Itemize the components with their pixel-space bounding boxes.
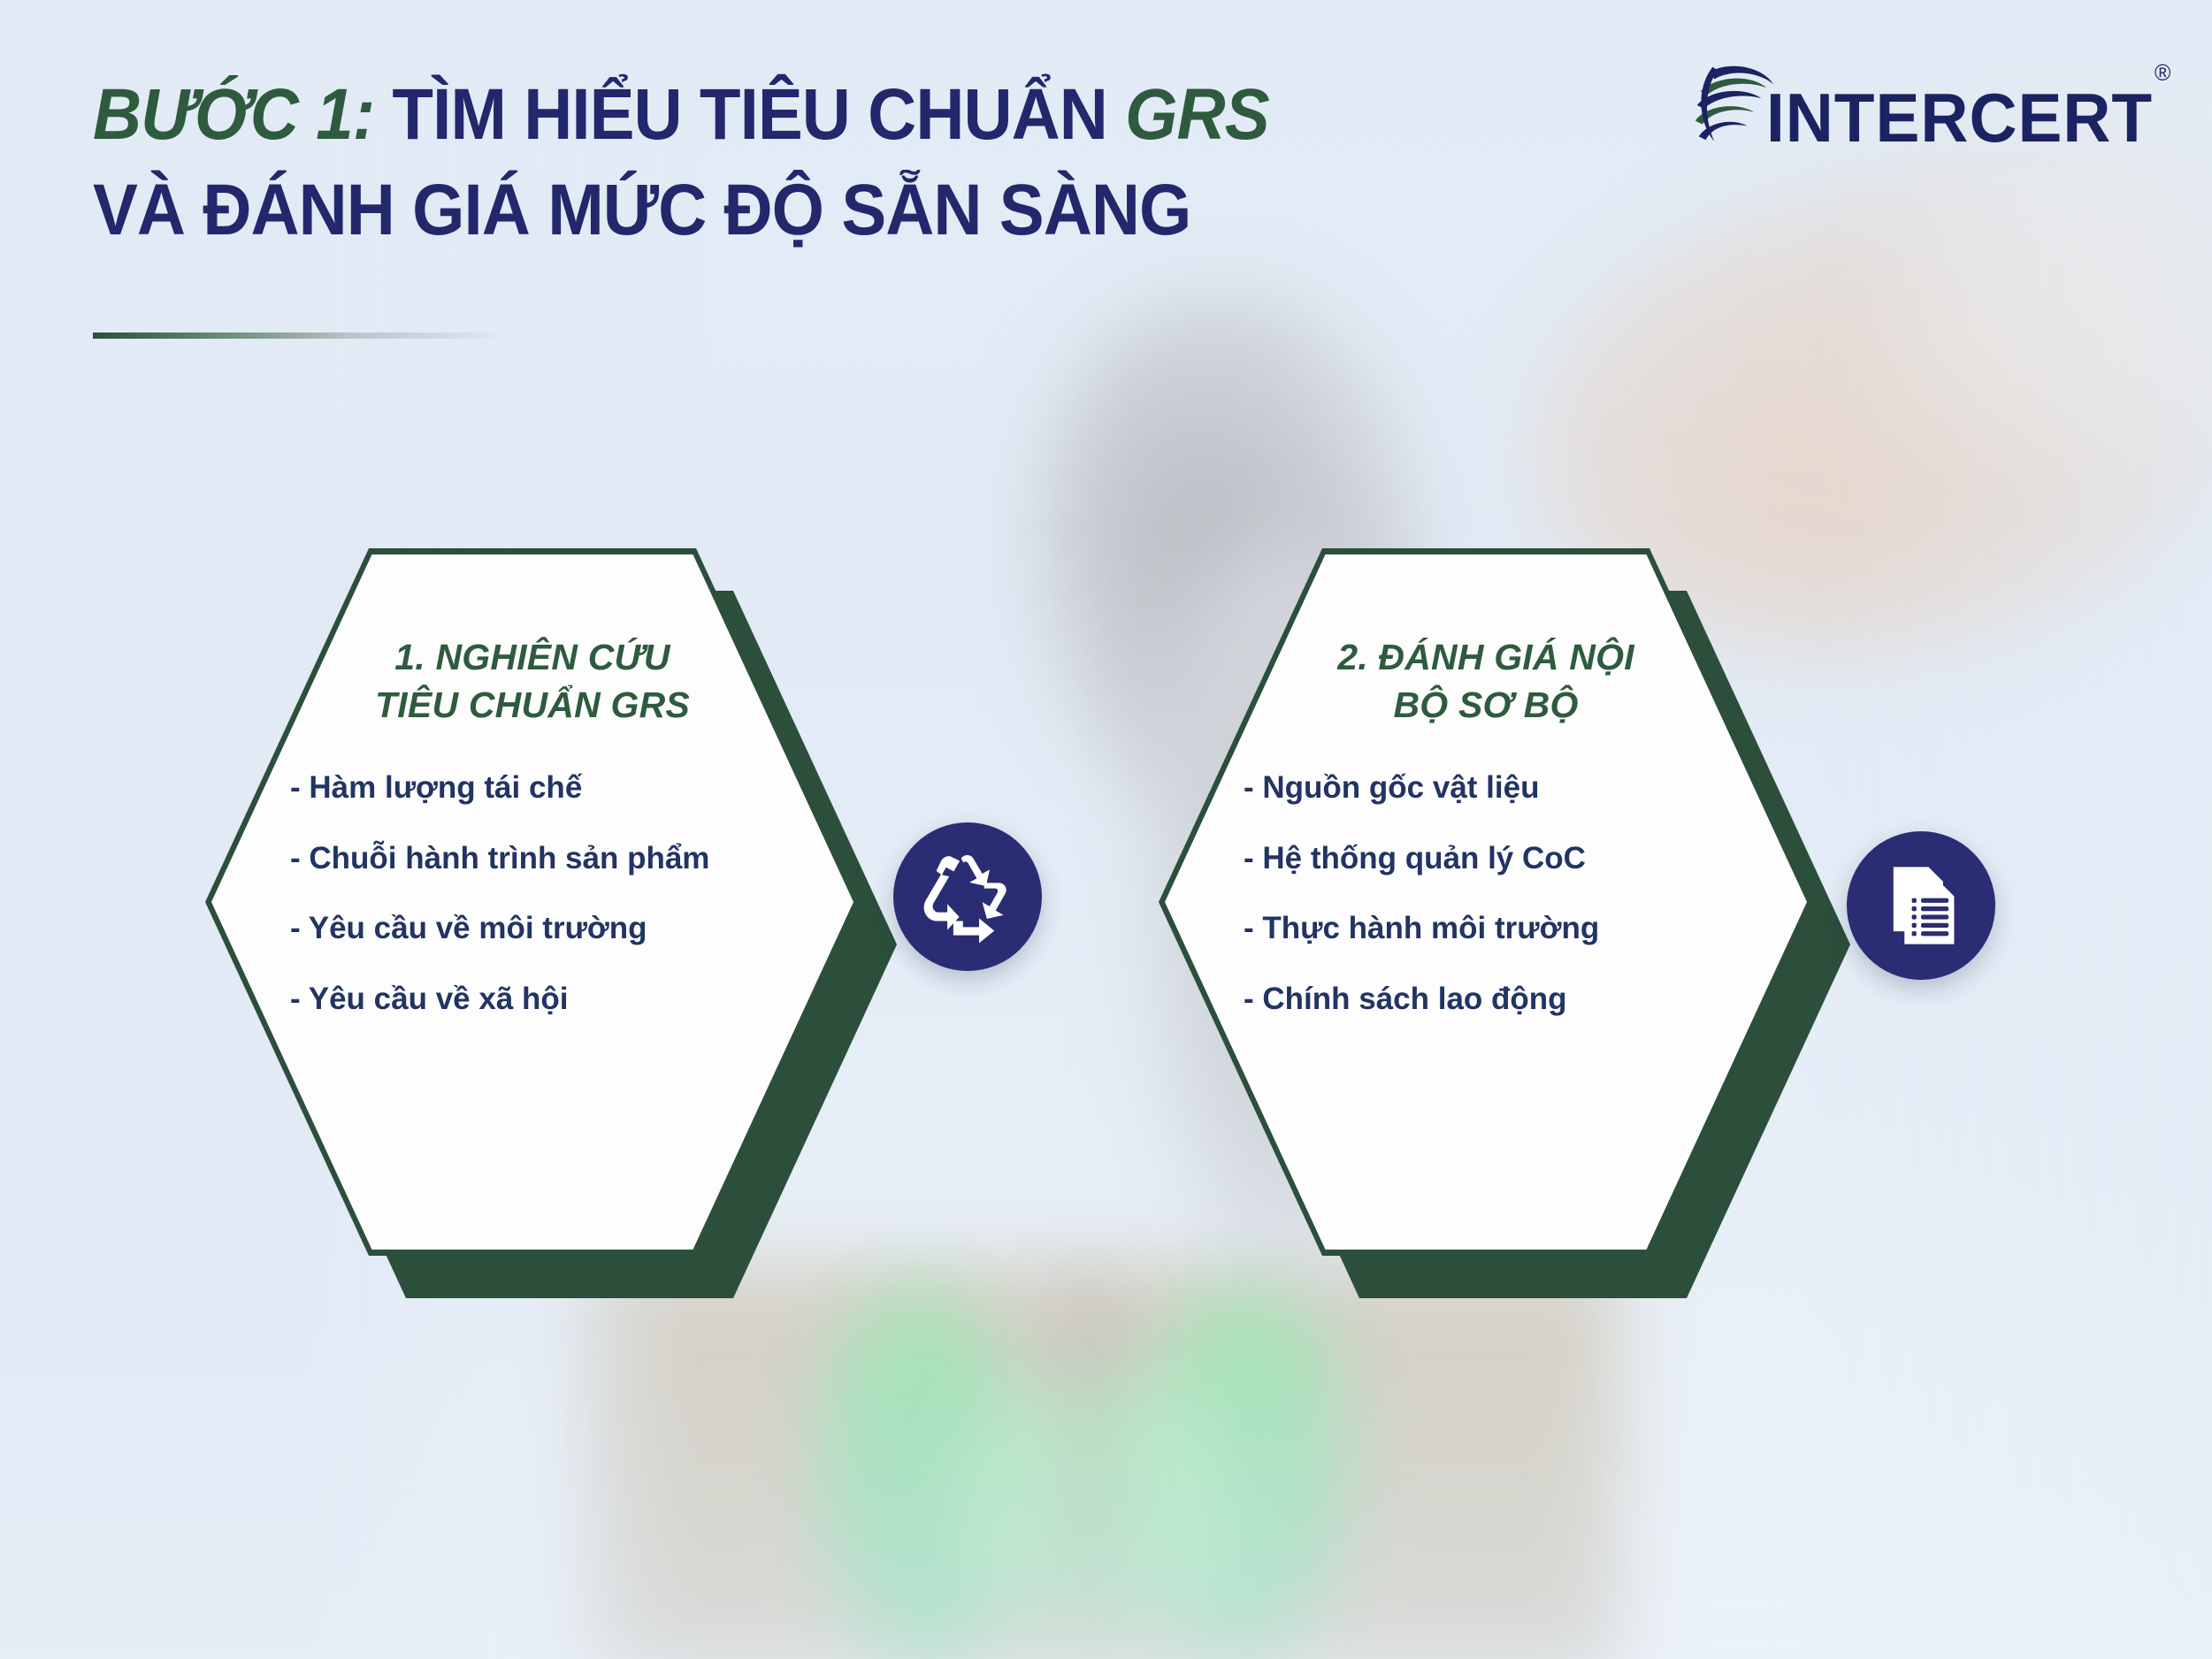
title-line-2: VÀ ĐÁNH GIÁ MỨC ĐỘ SẴN SÀNG (93, 173, 1269, 248)
intercert-logo: INTERCERT® (1687, 55, 2187, 152)
recycle-icon (922, 851, 1014, 943)
title-line-1: BƯỚC 1: TÌM HIỂU TIÊU CHUẨN GRS (93, 78, 1269, 152)
card-title: 1. NGHIÊN CỨU TIÊU CHUẨN GRS (290, 633, 775, 729)
title-divider (93, 333, 507, 339)
logo-wordmark-text: INTERCERT (1766, 79, 2153, 157)
list-item: - Yêu cầu về xã hội (290, 979, 775, 1020)
card-title-line-1: 2. ĐÁNH GIÁ NỘI (1337, 637, 1634, 677)
card-bullet-list: - Nguồn gốc vật liệu - Hệ thống quản lý … (1244, 768, 1728, 1019)
card-title-line-2: TIÊU CHUẨN GRS (375, 684, 690, 725)
documents-checklist-icon-badge[interactable] (1847, 831, 1995, 980)
card-title: 2. ĐÁNH GIÁ NỘI BỘ SƠ BỘ (1244, 633, 1728, 729)
page-title: BƯỚC 1: TÌM HIỂU TIÊU CHUẨN GRS VÀ ĐÁNH … (93, 78, 1358, 247)
documents-checklist-icon (1875, 860, 1967, 952)
list-item: - Chính sách lao động (1244, 979, 1728, 1020)
card-title-line-1: 1. NGHIÊN CỨU (394, 637, 670, 677)
title-grs-label: GRS (1125, 74, 1268, 155)
list-item: - Chuỗi hành trình sản phẩm (290, 838, 775, 879)
card-bullet-list: - Hàm lượng tái chế - Chuỗi hành trình s… (290, 768, 775, 1019)
list-item: - Hệ thống quản lý CoC (1244, 838, 1728, 879)
recycle-icon-badge[interactable] (893, 822, 1042, 971)
list-item: - Thực hành môi trường (1244, 908, 1728, 949)
list-item: - Yêu cầu về môi trường (290, 908, 775, 949)
logo-registered-mark: ® (2155, 59, 2172, 86)
title-step-label: BƯỚC 1: (93, 74, 374, 155)
card-title-line-2: BỘ SƠ BỘ (1393, 684, 1578, 725)
header: BƯỚC 1: TÌM HIỂU TIÊU CHUẨN GRS VÀ ĐÁNH … (0, 0, 2212, 371)
logo-wordmark: INTERCERT® (1766, 83, 2170, 152)
list-item: - Nguồn gốc vật liệu (1244, 768, 1728, 808)
list-item: - Hàm lượng tái chế (290, 768, 775, 808)
title-main-text: TÌM HIỂU TIÊU CHUẨN (392, 74, 1106, 155)
